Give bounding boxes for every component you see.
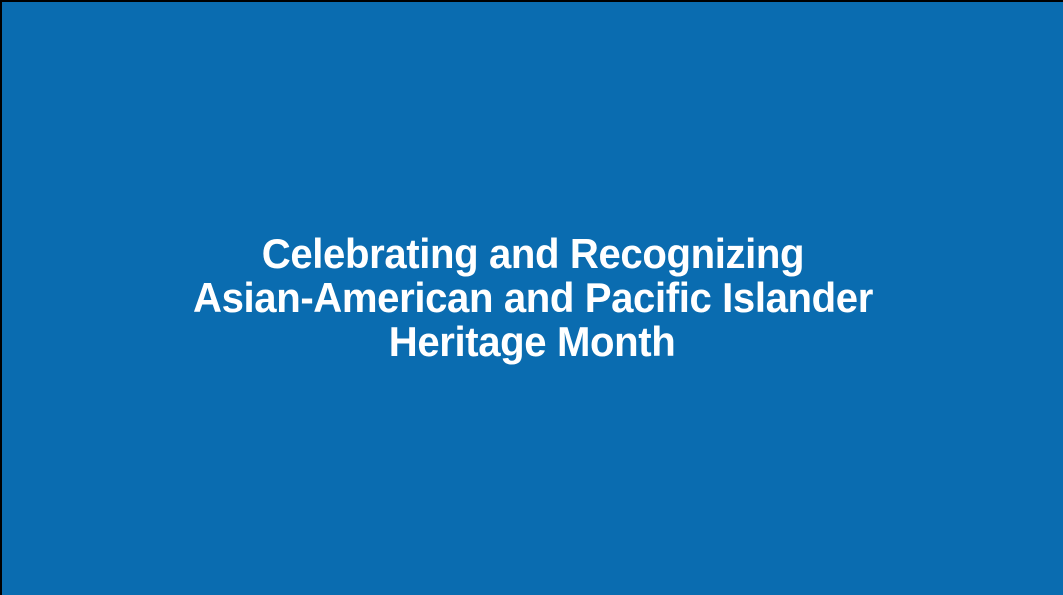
- slide-title-line-2: Asian-American and Pacific Islander: [193, 276, 873, 320]
- video-slide-frame: Celebrating and Recognizing Asian-Americ…: [0, 0, 1063, 595]
- slide-title-block: Celebrating and Recognizing Asian-Americ…: [2, 1, 1063, 594]
- slide-title-line-1: Celebrating and Recognizing: [261, 232, 803, 276]
- slide-title-line-3: Heritage Month: [389, 320, 676, 364]
